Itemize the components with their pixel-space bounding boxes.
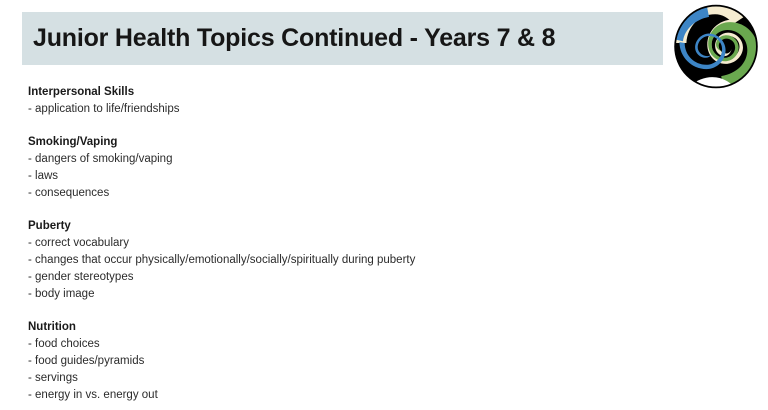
bullet-item: - changes that occur physically/emotiona… bbox=[28, 252, 728, 269]
bullet-item: - correct vocabulary bbox=[28, 235, 728, 252]
slide-canvas: Junior Health Topics Continued - Years 7… bbox=[0, 0, 768, 410]
section-puberty: Puberty - correct vocabulary - changes t… bbox=[28, 218, 728, 303]
title-banner: Junior Health Topics Continued - Years 7… bbox=[22, 12, 663, 65]
section-interpersonal-skills: Interpersonal Skills - application to li… bbox=[28, 84, 728, 118]
section-heading: Nutrition bbox=[28, 319, 728, 336]
bullet-item: - consequences bbox=[28, 185, 728, 202]
bullet-item: - gender stereotypes bbox=[28, 269, 728, 286]
topics-list: Interpersonal Skills - application to li… bbox=[28, 84, 728, 404]
koru-triple-spiral-logo bbox=[671, 3, 761, 90]
bullet-item: - servings bbox=[28, 370, 728, 387]
section-heading: Interpersonal Skills bbox=[28, 84, 728, 101]
section-smoking-vaping: Smoking/Vaping - dangers of smoking/vapi… bbox=[28, 134, 728, 202]
bullet-item: - food guides/pyramids bbox=[28, 353, 728, 370]
bullet-item: - body image bbox=[28, 286, 728, 303]
section-heading: Smoking/Vaping bbox=[28, 134, 728, 151]
bullet-item: - dangers of smoking/vaping bbox=[28, 151, 728, 168]
page-title: Junior Health Topics Continued - Years 7… bbox=[22, 26, 555, 51]
bullet-item: - application to life/friendships bbox=[28, 101, 728, 118]
section-heading: Puberty bbox=[28, 218, 728, 235]
section-nutrition: Nutrition - food choices - food guides/p… bbox=[28, 319, 728, 404]
bullet-item: - laws bbox=[28, 168, 728, 185]
bullet-item: - food choices bbox=[28, 336, 728, 353]
bullet-item: - energy in vs. energy out bbox=[28, 387, 728, 404]
